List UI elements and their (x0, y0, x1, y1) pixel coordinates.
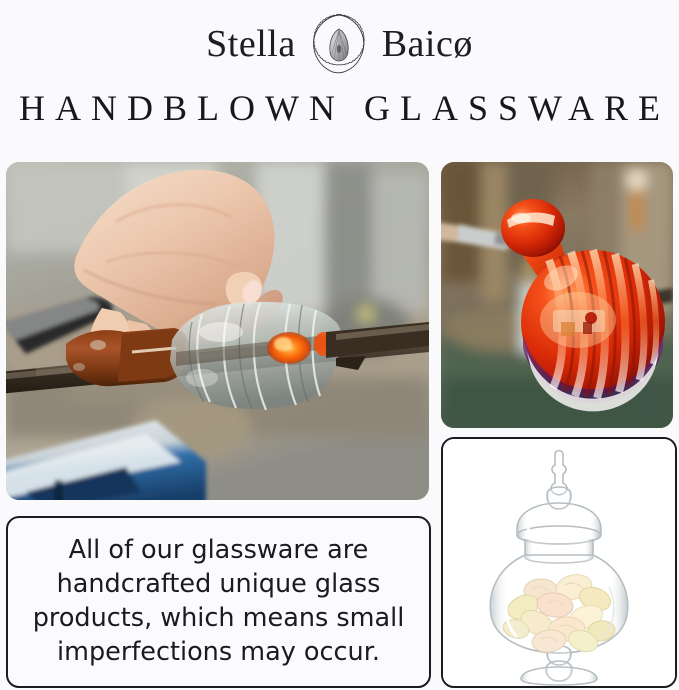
glass-apothecary-jar-with-candy-photo (443, 439, 675, 686)
scalloped-shell-emblem-icon (310, 13, 368, 75)
glassblower-shaping-photo (6, 162, 429, 500)
glassblowing-hand-on-blowpipe-photo (6, 162, 429, 500)
brand-header: Stella (0, 0, 679, 88)
page-title: HANDBLOWN GLASSWARE (0, 90, 679, 126)
molten-red-ribbed-glass-sphere-photo (441, 162, 673, 428)
disclaimer-note-box: All of our glassware are handcrafted uni… (6, 516, 431, 688)
brand-name-right: Baicø (382, 25, 473, 63)
disclaimer-note-text: All of our glassware are handcrafted uni… (8, 518, 429, 686)
image-gallery: All of our glassware are handcrafted uni… (0, 160, 679, 690)
red-glass-sphere-photo (441, 162, 673, 428)
apothecary-jar-photo (441, 437, 677, 688)
brand-name-left: Stella (206, 25, 296, 63)
